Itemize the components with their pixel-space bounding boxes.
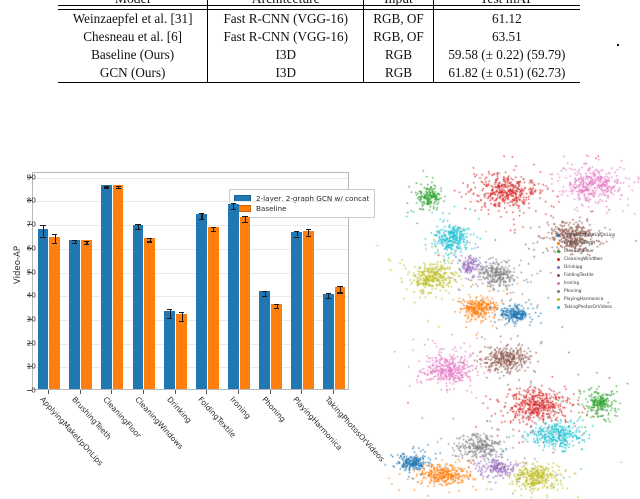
error-bar-cap: [326, 293, 331, 294]
tsne-legend-label: Ironing: [564, 281, 579, 286]
tsne-legend-entry: BrushingTeeth: [557, 240, 615, 247]
error-bar-cap: [274, 304, 279, 305]
results-table-section: Model Architecture Input Test mAP Weinza…: [0, 0, 640, 112]
table-cell-model: GCN (Ours): [58, 64, 208, 83]
error-bar-cap: [337, 292, 342, 293]
column-header-architecture: Architecture: [208, 0, 364, 9]
bar-gcn: [196, 214, 207, 389]
error-bar-cap: [231, 203, 236, 204]
bar-chart-x-tick: [301, 390, 302, 394]
error-bar: [170, 309, 171, 318]
table-cell-input: RGB, OF: [364, 10, 434, 29]
error-bar-cap: [135, 229, 140, 230]
error-bar-cap: [179, 312, 184, 313]
tsne-legend-label: FoldingTextile: [564, 273, 594, 278]
bar-chart-gridline: [33, 225, 348, 226]
bar-chart-legend: 2-layer, 2-graph GCN w/ concat Baseline: [229, 189, 375, 218]
error-bar-cap: [211, 227, 216, 228]
error-bar-cap: [147, 241, 152, 242]
bar-chart-y-tick-label: 10: [6, 362, 36, 371]
tsne-legend-entry: CleaningWindows: [557, 256, 615, 263]
table-row: Baseline (Ours)I3DRGB59.58 (± 0.22) (59.…: [58, 46, 580, 64]
table-header-row: Model Architecture Input Test mAP: [58, 0, 580, 9]
table-cell-map: 61.12: [433, 10, 580, 29]
table-cell-map: 59.58 (± 0.22) (59.79): [433, 46, 580, 64]
error-bar-cap: [199, 219, 204, 220]
bar-chart-gridline: [33, 201, 348, 202]
error-bar-cap: [199, 213, 204, 214]
tsne-legend-label: Phoning: [564, 289, 582, 294]
table-row: GCN (Ours)I3DRGB61.82 (± 0.51) (62.73): [58, 64, 580, 83]
error-bar-cap: [274, 308, 279, 309]
table-cell-architecture: Fast R-CNN (VGG-16): [208, 10, 364, 29]
bar-chart-x-tick: [333, 390, 334, 394]
bar-gcn: [164, 311, 175, 389]
bar-chart-x-tick: [143, 390, 144, 394]
tsne-scatter-plot: ApplyingMakeUpOnLipsBrushingTeethCleanin…: [372, 148, 640, 499]
tsne-legend: ApplyingMakeUpOnLipsBrushingTeethCleanin…: [557, 232, 615, 312]
tsne-legend-dot: [557, 298, 560, 301]
bar-baseline: [271, 304, 282, 389]
tsne-point-canvas: [372, 148, 640, 499]
error-bar-cap: [52, 234, 57, 235]
table-cell-architecture: I3D: [208, 64, 364, 83]
bar-chart-x-tick: [111, 390, 112, 394]
error-bar-cap: [167, 318, 172, 319]
bar-baseline: [49, 237, 60, 389]
table-body: Weinzaepfel et al. [31]Fast R-CNN (VGG-1…: [58, 10, 580, 83]
bar-baseline: [144, 238, 155, 389]
table-cell-model: Chesneau et al. [6]: [58, 28, 208, 46]
tsne-legend-dot: [557, 258, 560, 261]
tsne-legend-entry: Drinking: [557, 264, 615, 271]
bar-chart-x-tick: [206, 390, 207, 394]
error-bar-cap: [294, 231, 299, 232]
bar-gcn: [259, 291, 270, 389]
tsne-legend-label: TakingPhotosOrVideos: [564, 305, 612, 310]
table-cell-model: Baseline (Ours): [58, 46, 208, 64]
bar-chart-y-tick-label: 80: [6, 196, 36, 205]
tsne-legend-entry: Ironing: [557, 280, 615, 287]
error-bar-cap: [231, 209, 236, 210]
bar-chart-x-label: Phoning: [260, 395, 287, 424]
table-cell-model: Weinzaepfel et al. [31]: [58, 10, 208, 29]
tsne-legend-dot: [557, 290, 560, 293]
error-bar-cap: [147, 238, 152, 239]
tsne-legend-label: PlayingHarmonica: [564, 297, 603, 302]
error-bar-cap: [262, 291, 267, 292]
error-bar-cap: [242, 216, 247, 217]
error-bar-cap: [211, 231, 216, 232]
tsne-legend-label: BrushingTeeth: [564, 241, 595, 246]
column-header-input: Input: [364, 0, 434, 9]
bar-baseline: [303, 231, 314, 389]
table-cell-input: RGB: [364, 64, 434, 83]
error-bar-cap: [294, 237, 299, 238]
legend-entry-baseline: Baseline: [234, 204, 369, 213]
table-cell-architecture: I3D: [208, 46, 364, 64]
bar-chart-y-tick-label: 50: [6, 267, 36, 276]
column-header-test-map: Test mAP: [433, 0, 580, 9]
bar-baseline: [176, 314, 187, 389]
tsne-legend-entry: CleaningFloor: [557, 248, 615, 255]
bar-gcn: [228, 204, 239, 389]
error-bar-cap: [326, 298, 331, 299]
tsne-legend-entry: Phoning: [557, 288, 615, 295]
bar-gcn: [69, 240, 80, 389]
error-bar: [55, 234, 56, 243]
tsne-legend-label: CleaningWindows: [564, 257, 602, 262]
error-bar: [182, 312, 183, 321]
tsne-legend-entry: ApplyingMakeUpOnLips: [557, 232, 615, 239]
bar-gcn: [38, 229, 49, 389]
bar-chart-y-tick-label: 70: [6, 220, 36, 229]
results-table: Model Architecture Input Test mAP Weinza…: [58, 0, 580, 83]
bar-chart-gridline: [33, 178, 348, 179]
error-bar-cap: [306, 236, 311, 237]
column-header-model: Model: [58, 0, 208, 9]
tsne-legend-label: Drinking: [564, 265, 582, 270]
tsne-legend-label: CleaningFloor: [564, 249, 594, 254]
bar-chart-plot-area: 2-layer, 2-graph GCN w/ concat Baseline: [32, 172, 349, 390]
error-bar-cap: [167, 309, 172, 310]
tsne-legend-dot: [557, 242, 560, 245]
bar-chart-y-tick-label: 40: [6, 291, 36, 300]
table-cell-map: 61.82 (± 0.51) (62.73): [433, 64, 580, 83]
bar-chart-x-label: Ironing: [228, 395, 252, 421]
video-ap-bar-chart: Video-AP 2-layer, 2-graph GCN w/ concat …: [0, 150, 372, 499]
error-bar-cap: [72, 243, 77, 244]
tsne-legend-entry: PlayingHarmonica: [557, 296, 615, 303]
legend-label-baseline: Baseline: [256, 204, 286, 213]
bar-chart-x-tick: [270, 390, 271, 394]
bar-chart-x-tick: [175, 390, 176, 394]
error-bar-cap: [262, 296, 267, 297]
error-bar-cap: [84, 241, 89, 242]
bar-baseline: [240, 217, 251, 389]
error-bar-cap: [40, 237, 45, 238]
bar-chart-y-tick-label: 0: [6, 386, 36, 395]
error-bar-cap: [104, 187, 109, 188]
bar-chart-x-tick: [238, 390, 239, 394]
tsne-legend-dot: [557, 234, 560, 237]
tsne-legend-dot: [557, 274, 560, 277]
bar-baseline: [208, 227, 219, 389]
error-bar-cap: [84, 244, 89, 245]
bar-gcn: [323, 294, 334, 389]
error-bar-cap: [52, 243, 57, 244]
tsne-legend-dot: [557, 250, 560, 253]
bar-gcn: [133, 225, 144, 389]
error-bar-cap: [40, 225, 45, 226]
tsne-legend-dot: [557, 266, 560, 269]
bar-chart-y-tick-label: 30: [6, 314, 36, 323]
error-bar-cap: [72, 240, 77, 241]
error-bar-cap: [135, 224, 140, 225]
bar-chart-y-tick-label: 90: [6, 172, 36, 181]
table-row: Weinzaepfel et al. [31]Fast R-CNN (VGG-1…: [58, 10, 580, 29]
table-cell-input: RGB, OF: [364, 28, 434, 46]
bar-chart-y-tick-label: 60: [6, 243, 36, 252]
tsne-legend-dot: [557, 282, 560, 285]
bar-chart-y-tick-label: 20: [6, 338, 36, 347]
bar-baseline: [335, 287, 346, 389]
bar-chart-x-tick: [80, 390, 81, 394]
bar-gcn: [291, 232, 302, 389]
table-bottom-rule: [58, 83, 580, 84]
table-cell-map: 63.51: [433, 28, 580, 46]
error-bar-cap: [242, 222, 247, 223]
bar-chart-x-tick: [48, 390, 49, 394]
bar-chart-x-label: ApplyingMakeUpOnLips: [38, 395, 105, 468]
error-bar-cap: [179, 321, 184, 322]
error-bar: [43, 225, 44, 236]
error-bar-cap: [306, 229, 311, 230]
error-bar-cap: [337, 286, 342, 287]
page-dot-mark: [617, 44, 619, 46]
table-cell-architecture: Fast R-CNN (VGG-16): [208, 28, 364, 46]
tsne-legend-entry: TakingPhotosOrVideos: [557, 304, 615, 311]
table-cell-input: RGB: [364, 46, 434, 64]
bar-baseline: [81, 240, 92, 389]
bar-gcn: [101, 185, 112, 389]
bar-chart-x-label: Drinking: [165, 395, 193, 425]
tsne-legend-dot: [557, 306, 560, 309]
tsne-legend-label: ApplyingMakeUpOnLips: [564, 233, 615, 238]
bar-baseline: [113, 185, 124, 389]
table-row: Chesneau et al. [6]Fast R-CNN (VGG-16)RG…: [58, 28, 580, 46]
tsne-legend-entry: FoldingTextile: [557, 272, 615, 279]
error-bar-cap: [116, 188, 121, 189]
